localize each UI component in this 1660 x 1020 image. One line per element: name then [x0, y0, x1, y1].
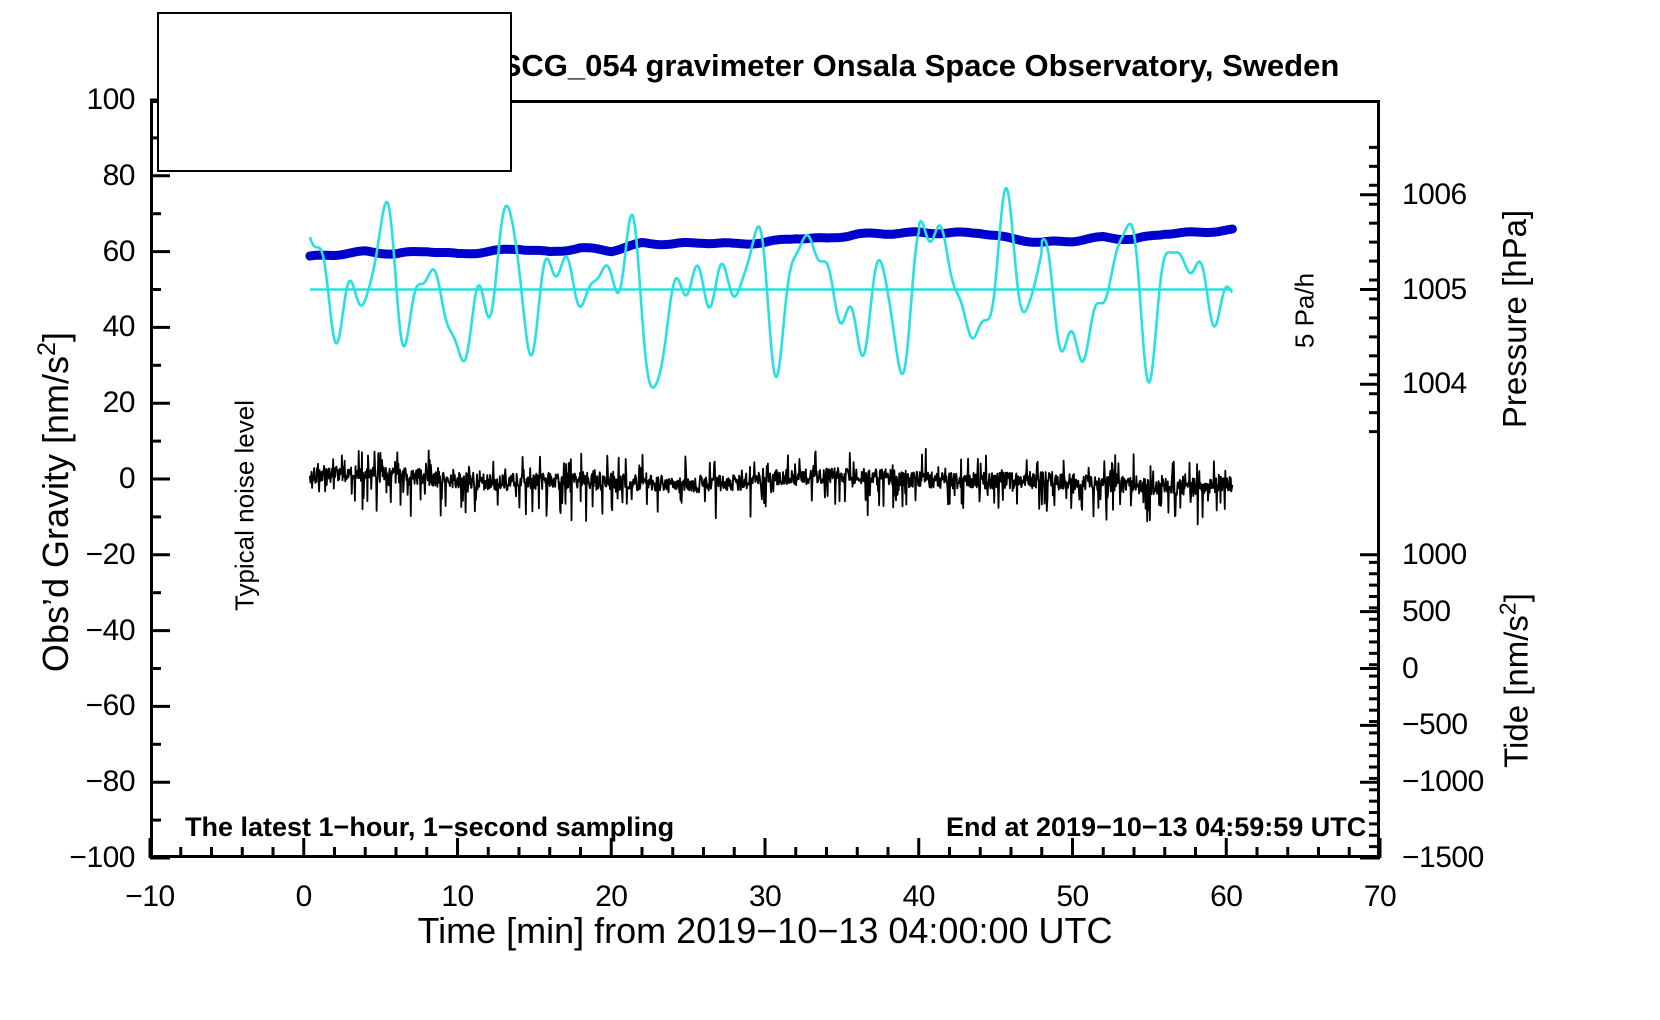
- pressure-tick-label: 1006: [1402, 178, 1467, 212]
- y-tick-label-left: −60: [20, 689, 135, 723]
- tide-tick-label: 0: [1402, 652, 1418, 686]
- y-tick-label-left: 100: [20, 83, 135, 117]
- footer-note-right: End at 2019−10−13 04:59:59 UTC: [946, 812, 1366, 843]
- y-tick-label-left: −40: [20, 614, 135, 648]
- x-tick-label: 50: [1056, 880, 1088, 914]
- series-pressure: [310, 229, 1233, 256]
- x-tick-label: 10: [441, 880, 473, 914]
- pressure-rate-scale-label: 5 Pa/h: [1290, 196, 1321, 426]
- y-tick-label-left: 80: [20, 159, 135, 193]
- pressure-tick-label: 1004: [1402, 367, 1467, 401]
- x-axis-title: Time [min] from 2019−10−13 04:00:00 UTC: [260, 910, 1270, 952]
- x-tick-label: 60: [1210, 880, 1242, 914]
- y-tick-label-left: 20: [20, 386, 135, 420]
- y-axis-title-tide: Tide [nm/s2]: [1495, 516, 1536, 846]
- y-tick-label-left: −80: [20, 765, 135, 799]
- y-axis-title-pressure: Pressure [hPa]: [1496, 154, 1534, 484]
- x-tick-label: 30: [749, 880, 781, 914]
- y-tick-label-left: 0: [20, 462, 135, 496]
- series-residual: [310, 449, 1233, 525]
- footer-note-left: The latest 1−hour, 1−second sampling: [185, 812, 674, 843]
- typical-noise-level-label: Typical noise level: [230, 391, 261, 621]
- tide-tick-label: 1000: [1402, 538, 1467, 572]
- y-axis-title-left: Obs’d Gravity [nm/s2]: [33, 287, 77, 717]
- x-tick-label: 40: [903, 880, 935, 914]
- legend: [157, 12, 512, 172]
- y-tick-label-left: 40: [20, 310, 135, 344]
- tide-tick-label: −1500: [1402, 841, 1484, 875]
- series-dpdt: [310, 188, 1233, 387]
- x-tick-label: 20: [595, 880, 627, 914]
- tide-tick-label: −1000: [1402, 765, 1484, 799]
- pressure-tick-label: 1005: [1402, 273, 1467, 307]
- chart-canvas: SCG_054 gravimeter Onsala Space Observat…: [0, 0, 1660, 1020]
- x-tick-label: −10: [125, 880, 174, 914]
- y-tick-label-left: −100: [20, 841, 135, 875]
- tide-tick-label: 500: [1402, 595, 1451, 629]
- tide-tick-label: −500: [1402, 708, 1468, 742]
- x-tick-label: 0: [296, 880, 312, 914]
- x-tick-label: 70: [1364, 880, 1396, 914]
- y-tick-label-left: 60: [20, 235, 135, 269]
- y-tick-label-left: −20: [20, 538, 135, 572]
